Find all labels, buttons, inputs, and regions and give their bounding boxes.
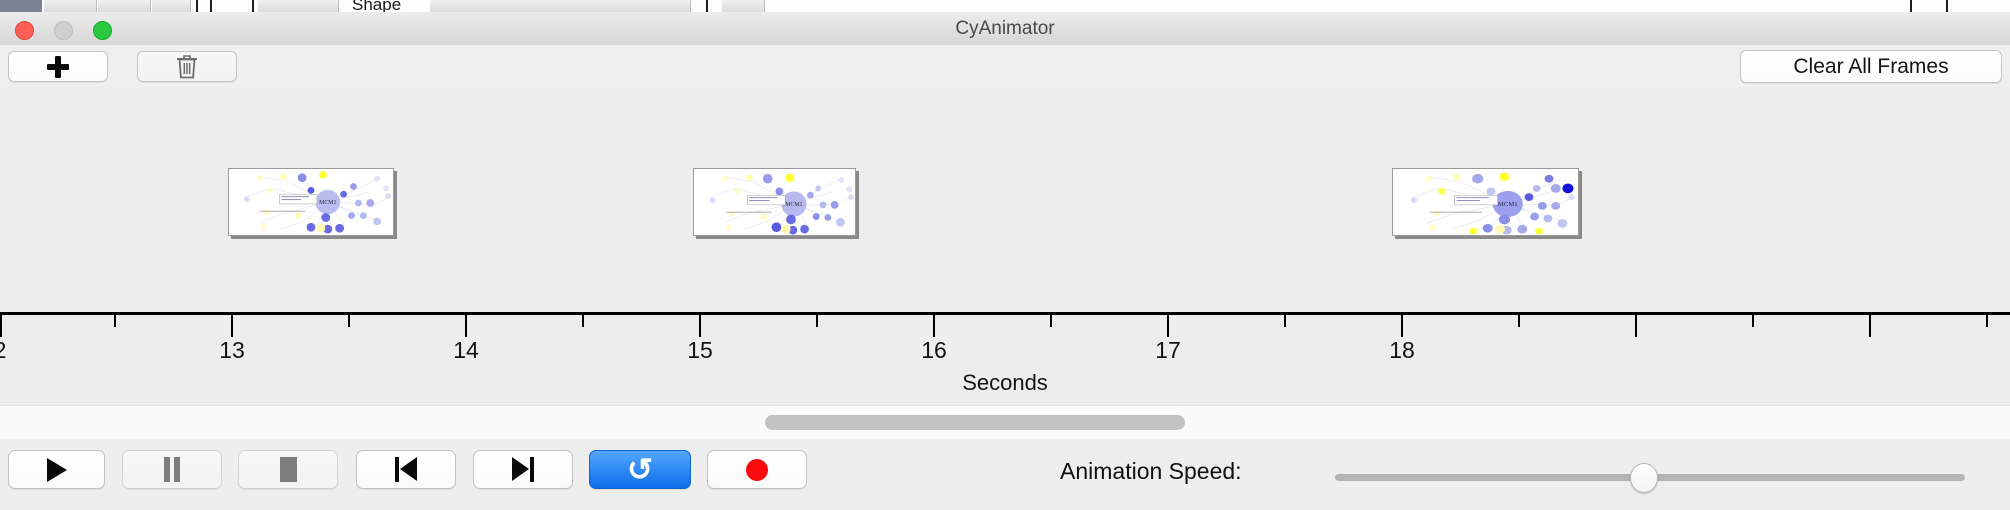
record-button[interactable]	[707, 450, 807, 489]
network-graph-1: MCM1	[229, 169, 393, 235]
pause-button[interactable]	[122, 450, 222, 489]
horizontal-scrollbar-thumb[interactable]	[765, 415, 1185, 430]
axis-tick-minor	[114, 315, 116, 327]
axis-tick-label: 14	[441, 337, 491, 364]
background-window-tick	[706, 0, 708, 12]
animation-speed-label: Animation Speed:	[1060, 458, 1242, 485]
axis-tick-label: 16	[909, 337, 959, 364]
title-bar: CyAnimator	[0, 12, 2010, 46]
trash-icon	[175, 53, 199, 80]
axis-tick-minor	[1284, 315, 1286, 327]
axis-tick-label: 17	[1143, 337, 1193, 364]
axis-tick-major	[0, 315, 2, 337]
toolbar: Clear All Frames	[0, 45, 2010, 88]
delete-frame-button[interactable]	[137, 51, 237, 82]
animation-speed-slider-knob[interactable]	[1630, 463, 1658, 493]
timeline-panel[interactable]: MCM1	[0, 87, 2010, 405]
axis-tick-minor	[1050, 315, 1052, 327]
frame-thumbnail-1[interactable]: MCM1	[228, 168, 394, 236]
axis-tick-minor	[582, 315, 584, 327]
axis-tick-major	[933, 315, 935, 337]
svg-text:MCM1: MCM1	[319, 200, 336, 206]
window-title: CyAnimator	[0, 12, 2010, 45]
cyanimator-window: Shape CyAnimator Clear All Frames	[0, 0, 2010, 510]
skip-back-icon	[395, 457, 417, 482]
timeline-axis	[0, 312, 2010, 315]
record-icon	[746, 459, 768, 481]
background-window-block	[152, 0, 191, 12]
stop-button[interactable]	[238, 450, 338, 489]
network-graph-3: MCM1	[1393, 169, 1578, 235]
axis-tick-label: 13	[207, 337, 257, 364]
axis-tick-major	[1167, 315, 1169, 337]
background-window-block	[44, 0, 97, 12]
clear-all-frames-button[interactable]: Clear All Frames	[1740, 50, 2002, 83]
svg-text:MCM1: MCM1	[785, 202, 802, 208]
background-window-block	[430, 0, 691, 12]
background-window-tick	[196, 0, 198, 12]
playback-control-bar: ↻ Animation Speed:	[0, 439, 2010, 510]
plus-icon	[47, 56, 69, 78]
play-button[interactable]	[8, 450, 105, 489]
stop-icon	[280, 457, 297, 482]
axis-tick-major	[699, 315, 701, 337]
axis-tick-minor	[1752, 315, 1754, 327]
axis-tick-minor	[348, 315, 350, 327]
background-window-tick	[1946, 0, 1948, 12]
background-window-block	[98, 0, 151, 12]
background-window-dark-block	[0, 0, 42, 12]
background-window-tick	[210, 0, 212, 12]
next-frame-button[interactable]	[473, 450, 573, 489]
axis-tick-major	[465, 315, 467, 337]
axis-tick-minor	[1986, 315, 1988, 327]
horizontal-scrollbar[interactable]	[0, 405, 2010, 440]
loop-button[interactable]: ↻	[589, 450, 691, 489]
add-frame-button[interactable]	[8, 51, 108, 82]
skip-forward-icon	[512, 457, 534, 482]
pause-icon	[163, 457, 181, 482]
background-window-block	[722, 0, 765, 12]
axis-tick-minor	[1518, 315, 1520, 327]
network-graph-2: MCM1	[694, 169, 855, 235]
axis-tick-label: 15	[675, 337, 725, 364]
play-icon	[47, 458, 67, 482]
axis-title: Seconds	[0, 370, 2010, 396]
axis-tick-major	[1635, 315, 1637, 337]
frame-thumbnail-2[interactable]: MCM1	[693, 168, 856, 236]
axis-tick-major	[1869, 315, 1871, 337]
background-window-tick	[1910, 0, 1912, 12]
loop-icon: ↻	[627, 454, 653, 485]
axis-tick-minor	[816, 315, 818, 327]
previous-frame-button[interactable]	[356, 450, 456, 489]
svg-text:MCM1: MCM1	[1498, 201, 1518, 208]
background-window-block	[258, 0, 339, 12]
axis-tick-major	[1401, 315, 1403, 337]
axis-tick-major	[231, 315, 233, 337]
frame-thumbnail-3[interactable]: MCM1	[1392, 168, 1579, 236]
axis-tick-label: 18	[1377, 337, 1427, 364]
axis-tick-label: 2	[0, 337, 20, 364]
background-window-tick	[252, 0, 254, 12]
